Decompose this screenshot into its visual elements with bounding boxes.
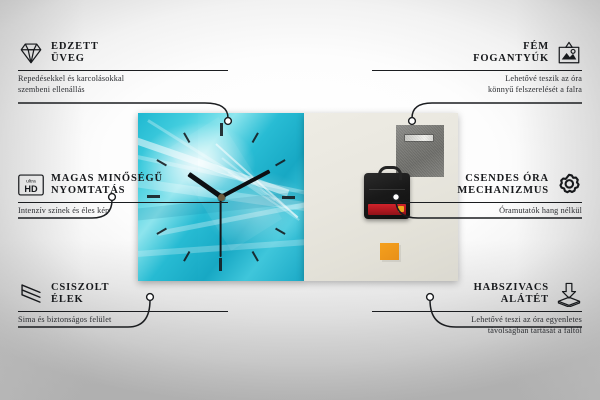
feature-magas-minosegu-nyomtatas: ultra HD MAGAS MINŐSÉGŰ NYOMTATÁS Intenz… (18, 172, 228, 217)
feature-title-line1: CSISZOLT (51, 282, 109, 293)
feature-desc-line1: Intenzív színek és éles kép (18, 206, 109, 215)
feature-title-line1: FÉM (523, 41, 549, 52)
feature-title-line2: ALÁTÉT (501, 294, 549, 305)
feature-desc-line1: Lehetővé teszi az óra egyenletes (471, 315, 582, 324)
gear-icon (556, 172, 582, 198)
diamond-icon (18, 40, 44, 66)
feature-desc-line1: Repedésekkel és karcolásokkal (18, 74, 124, 83)
divider (372, 70, 582, 71)
divider (372, 311, 582, 312)
clock-tick-3 (221, 196, 295, 198)
feature-desc-line2: távolságban tartását a faltól (488, 326, 582, 335)
feature-title-line1: EDZETT (51, 41, 99, 52)
feature-desc-line1: Sima és biztonságos felület (18, 315, 111, 324)
foam-spacer-pad (380, 243, 399, 260)
feature-desc-line2: könnyű felszerelését a falra (488, 85, 582, 94)
foam-pad-arrow-icon (556, 281, 582, 307)
feature-title-line2: FOGANTYÚK (473, 53, 549, 64)
feature-title-line2: MECHANIZMUS (457, 185, 549, 196)
feature-title-line2: NYOMTATÁS (51, 185, 125, 196)
feature-title-line2: ÉLEK (51, 294, 84, 305)
polished-edges-icon (18, 281, 44, 307)
feature-csiszolt-elek: CSISZOLT ÉLEK Sima és biztonságos felüle… (18, 281, 228, 326)
infographic-canvas: EDZETT ÜVEG Repedésekkel és karcolásokka… (0, 0, 600, 400)
feature-csendes-ora-mechanizmus: CSENDES ÓRA MECHANIZMUS Óramutatók hang … (372, 172, 582, 217)
feature-desc-line2: szembeni ellenállás (18, 85, 85, 94)
feature-habszivacs-alatet: HABSZIVACS ALÁTÉT Lehetővé teszi az óra … (372, 281, 582, 336)
feature-title-line2: ÜVEG (51, 53, 85, 64)
feature-title-line1: HABSZIVACS (474, 282, 549, 293)
divider (18, 311, 228, 312)
feature-title-line1: MAGAS MINŐSÉGŰ (51, 173, 163, 184)
feature-desc-line1: Óramutatók hang nélkül (499, 206, 582, 215)
divider (18, 202, 228, 203)
divider (18, 70, 228, 71)
feature-fem-fogantyuk: FÉM FOGANTYÚK Lehetővé teszik az óra kön… (372, 40, 582, 95)
svg-text:HD: HD (24, 184, 38, 194)
feature-desc-line1: Lehetővé teszik az óra (505, 74, 582, 83)
metal-hanger-plate (396, 125, 444, 177)
picture-hanger-icon (556, 40, 582, 66)
feature-edzett-uveg: EDZETT ÜVEG Repedésekkel és karcolásokka… (18, 40, 228, 95)
feature-title-line1: CSENDES ÓRA (465, 173, 549, 184)
divider (372, 202, 582, 203)
ultra-hd-icon: ultra HD (18, 172, 44, 198)
